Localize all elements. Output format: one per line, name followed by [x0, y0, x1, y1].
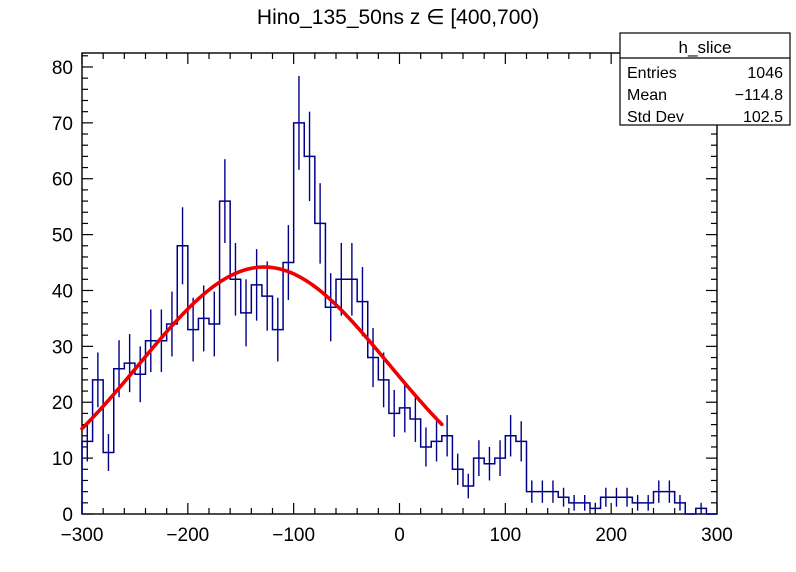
- x-tick-label: 0: [394, 525, 405, 546]
- x-tick-label: −200: [166, 525, 209, 546]
- stats-value-mean: −114.8: [735, 87, 783, 104]
- x-tick-label: 300: [701, 525, 733, 546]
- stats-label-mean: Mean: [627, 87, 667, 104]
- y-tick-label: 30: [52, 337, 73, 358]
- x-tick-label: 200: [595, 525, 627, 546]
- y-tick-label: 40: [52, 281, 73, 302]
- y-tick-label: 0: [62, 505, 73, 526]
- y-tick-label: 10: [52, 449, 73, 470]
- y-tick-label: 60: [52, 170, 73, 191]
- y-tick-label: 20: [52, 393, 73, 414]
- stats-value-stddev: 102.5: [743, 109, 783, 126]
- y-tick-label: 50: [52, 226, 73, 247]
- y-axis-tick-labels: 01020304050607080: [52, 58, 73, 526]
- x-tick-label: −300: [61, 525, 104, 546]
- stats-title: h_slice: [679, 38, 732, 57]
- x-tick-label: 100: [489, 525, 521, 546]
- stats-value-entries: 1046: [747, 65, 783, 82]
- y-tick-label: 80: [52, 58, 73, 79]
- page-title: Hino_135_50ns z ∈ [400,700): [257, 6, 539, 29]
- x-tick-label: −100: [272, 525, 315, 546]
- histogram-plot: Hino_135_50ns z ∈ [400,700) −300−200−100…: [0, 0, 796, 572]
- root-canvas: Hino_135_50ns z ∈ [400,700) −300−200−100…: [0, 0, 796, 572]
- statistics-box[interactable]: h_slice Entries 1046 Mean −114.8 Std Dev…: [620, 33, 790, 126]
- stats-label-stddev: Std Dev: [627, 109, 684, 126]
- stats-label-entries: Entries: [627, 65, 677, 82]
- y-tick-label: 70: [52, 114, 73, 135]
